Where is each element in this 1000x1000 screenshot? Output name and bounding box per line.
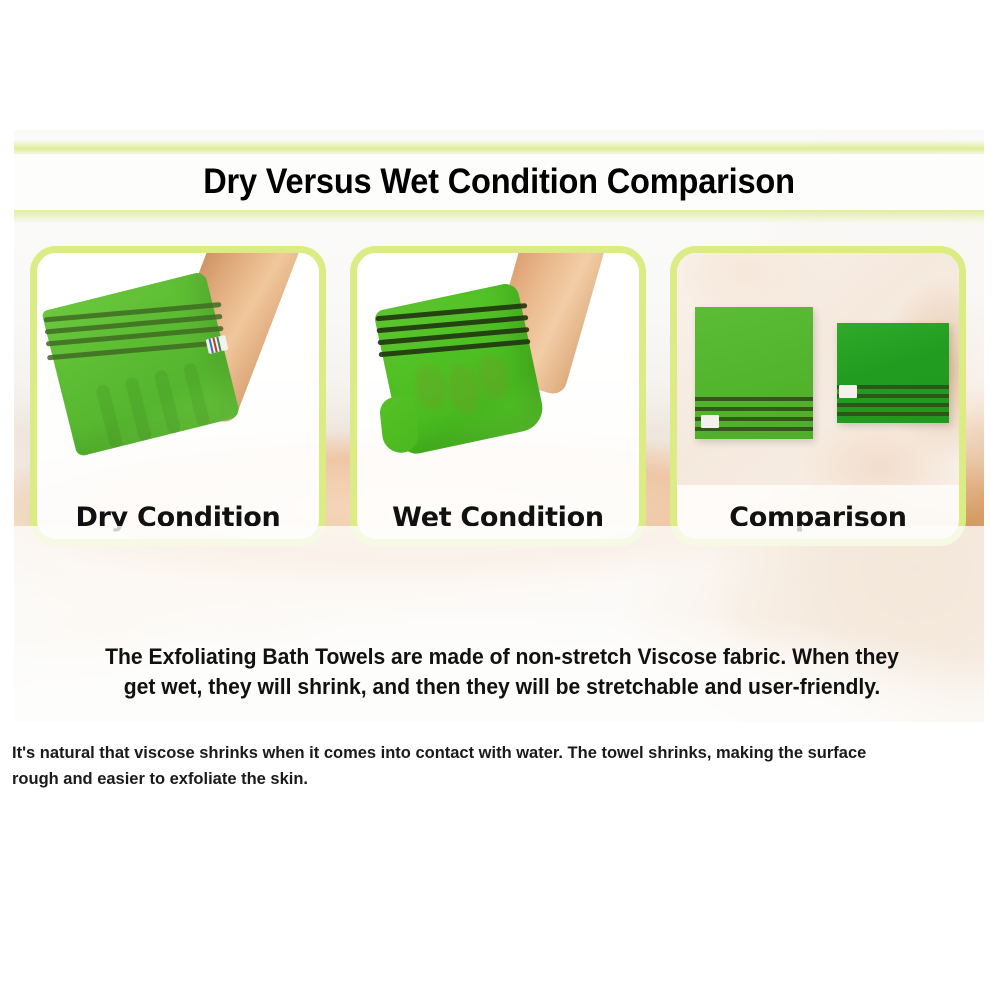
product-comparison-banner: Dry Versus Wet Condition Comparison — [14, 130, 984, 722]
towel-dry-flat — [695, 307, 813, 439]
dry-condition-image — [37, 253, 319, 485]
description-line-2: get wet, they will shrink, and then they… — [80, 672, 925, 702]
footer-line-1: It's natural that viscose shrinks when i… — [12, 740, 930, 766]
card-dry-condition[interactable]: Dry Condition — [30, 246, 326, 546]
mitt-thumb — [378, 395, 420, 454]
description-line-1: The Exfoliating Bath Towels are made of … — [80, 642, 925, 672]
mitt-stripes — [375, 301, 531, 362]
footer-note: It's natural that viscose shrinks when i… — [12, 740, 930, 792]
finger-impression — [412, 363, 450, 412]
mitt-stripes — [43, 298, 225, 369]
towel-wet-flat — [837, 323, 949, 423]
brand-label-tag — [839, 385, 857, 398]
finger-impression — [475, 352, 512, 403]
fabric-fold — [153, 369, 181, 434]
card-wet-condition[interactable]: Wet Condition — [350, 246, 646, 546]
page-title: Dry Versus Wet Condition Comparison — [48, 162, 950, 202]
wet-condition-image — [357, 253, 639, 485]
exfoliating-mitt-shape — [373, 281, 547, 456]
fabric-fold — [95, 384, 123, 449]
footer-line-2: rough and easier to exfoliate the skin. — [12, 766, 930, 792]
exfoliating-mitt-shape — [41, 271, 240, 457]
title-rule-top — [14, 140, 984, 154]
fabric-fold — [124, 376, 152, 441]
brand-label-tag — [701, 415, 719, 428]
fabric-fold — [182, 362, 210, 427]
card-comparison[interactable]: Comparison — [670, 246, 966, 546]
title-rule-bottom — [14, 210, 984, 224]
comparison-image — [677, 253, 959, 485]
comparison-card-row: Dry Condition Wet Condition — [30, 246, 966, 546]
